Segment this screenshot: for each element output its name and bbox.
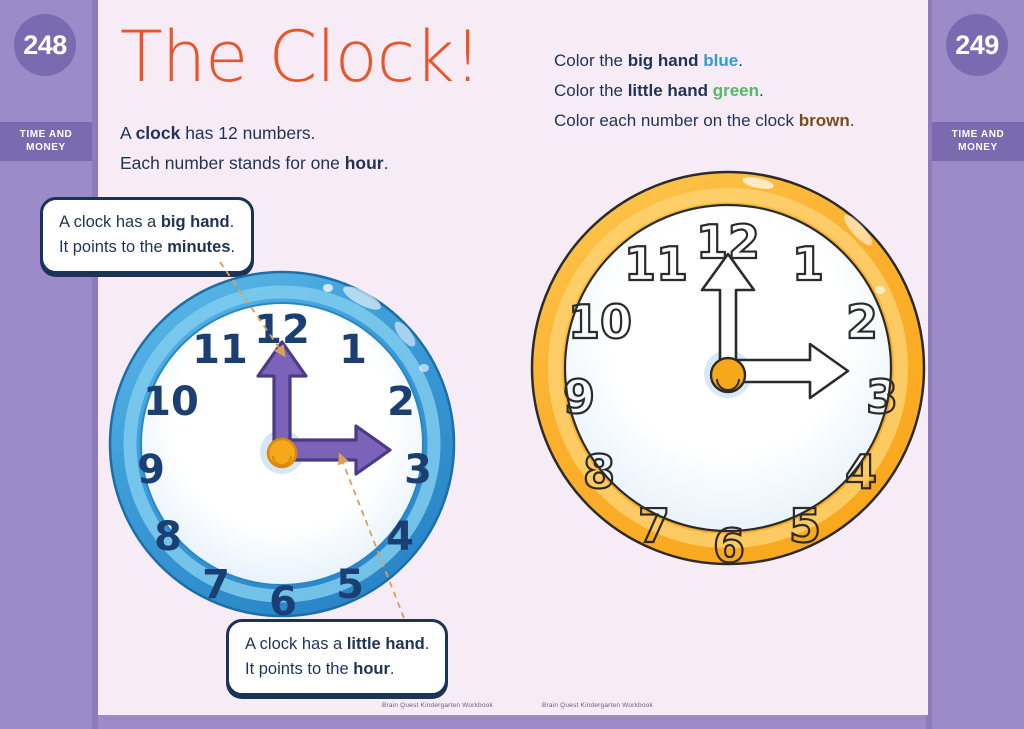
clock-blue-numeral-2: 2 xyxy=(387,379,415,425)
category-tab-left-line1: TIME AND xyxy=(0,128,92,141)
clock-blue-gloss-dot-1 xyxy=(323,284,333,292)
clock-blue-hub xyxy=(268,439,296,467)
callout-big-hand-line2: It points to the minutes. xyxy=(59,235,235,260)
clock-blue-numeral-5: 5 xyxy=(336,562,364,608)
clock-blue-numeral-6: 6 xyxy=(269,579,297,620)
clock-orange-numeral-1: 1 xyxy=(792,237,824,291)
clock-blue-numeral-10: 10 xyxy=(143,379,199,425)
clock-blue-gloss-dot-2 xyxy=(419,364,429,372)
workbook-spread: 248 249 TIME AND MONEY TIME AND MONEY Th… xyxy=(0,0,1024,729)
clock-orange-numeral-10: 10 xyxy=(568,295,632,349)
clock-blue-numeral-4: 4 xyxy=(386,514,414,560)
clock-orange-numeral-3: 3 xyxy=(866,370,898,424)
clock-blue-numeral-3: 3 xyxy=(404,447,432,493)
clock-orange-numeral-4: 4 xyxy=(845,445,877,499)
clock-orange-numeral-5: 5 xyxy=(789,499,821,553)
instruction-line-2: Color the little hand green. xyxy=(554,76,854,106)
instruction-line-1: Color the big hand blue. xyxy=(554,46,854,76)
footer-left: Brain Quest Kindergarten Workbook xyxy=(382,702,493,709)
callout-little-hand-line2: It points to the hour. xyxy=(245,657,429,682)
callout-little-hand: A clock has a little hand. It points to … xyxy=(226,619,448,696)
category-tab-right-line2: MONEY xyxy=(932,141,1024,154)
category-tab-left: TIME AND MONEY xyxy=(0,122,92,161)
intro-text: A clock has 12 numbers. Each number stan… xyxy=(120,118,388,178)
instruction-line-3: Color each number on the clock brown. xyxy=(554,106,854,136)
clock-blue-example: 12 1 2 3 4 5 6 7 8 9 10 11 xyxy=(106,268,458,625)
page-title: The Clock! xyxy=(120,16,481,98)
page-number-right: 249 xyxy=(946,14,1008,76)
clock-orange-activity[interactable]: 12 1 2 3 4 5 6 7 8 9 10 11 xyxy=(528,168,928,573)
clock-blue-numeral-8: 8 xyxy=(154,514,182,560)
clock-blue-numeral-11: 11 xyxy=(192,327,248,373)
right-margin xyxy=(932,0,1024,729)
clock-orange-numeral-6: 6 xyxy=(713,519,745,568)
category-tab-right-line1: TIME AND xyxy=(932,128,1024,141)
page-number-right-value: 249 xyxy=(955,30,999,61)
callout-big-hand-line1: A clock has a big hand. xyxy=(59,210,235,235)
clock-blue-svg: 12 1 2 3 4 5 6 7 8 9 10 11 xyxy=(106,268,458,620)
clock-orange-hub xyxy=(711,358,745,392)
intro-line-1: A clock has 12 numbers. xyxy=(120,118,388,148)
instructions-text: Color the big hand blue. Color the littl… xyxy=(554,46,854,136)
clock-orange-numeral-2: 2 xyxy=(846,295,878,349)
category-tab-right: TIME AND MONEY xyxy=(932,122,1024,161)
left-margin xyxy=(0,0,92,729)
footer-right: Brain Quest Kindergarten Workbook xyxy=(542,702,653,709)
clock-blue-numeral-9: 9 xyxy=(137,447,165,493)
clock-orange-svg[interactable]: 12 1 2 3 4 5 6 7 8 9 10 11 xyxy=(528,168,928,568)
page-number-left-value: 248 xyxy=(23,30,67,61)
clock-orange-numeral-9: 9 xyxy=(563,370,595,424)
clock-blue-numeral-1: 1 xyxy=(339,327,367,373)
callout-big-hand: A clock has a big hand. It points to the… xyxy=(40,197,254,274)
page-number-left: 248 xyxy=(14,14,76,76)
clock-orange-numeral-11: 11 xyxy=(624,237,688,291)
clock-blue-numeral-7: 7 xyxy=(202,562,230,608)
clock-orange-numeral-7: 7 xyxy=(638,499,670,553)
category-tab-left-line2: MONEY xyxy=(0,141,92,154)
callout-little-hand-line1: A clock has a little hand. xyxy=(245,632,429,657)
clock-orange-numeral-8: 8 xyxy=(583,445,615,499)
page-sheet: The Clock! A clock has 12 numbers. Each … xyxy=(98,0,928,715)
clock-orange-gloss-dot-1 xyxy=(875,286,885,294)
intro-line-2: Each number stands for one hour. xyxy=(120,148,388,178)
